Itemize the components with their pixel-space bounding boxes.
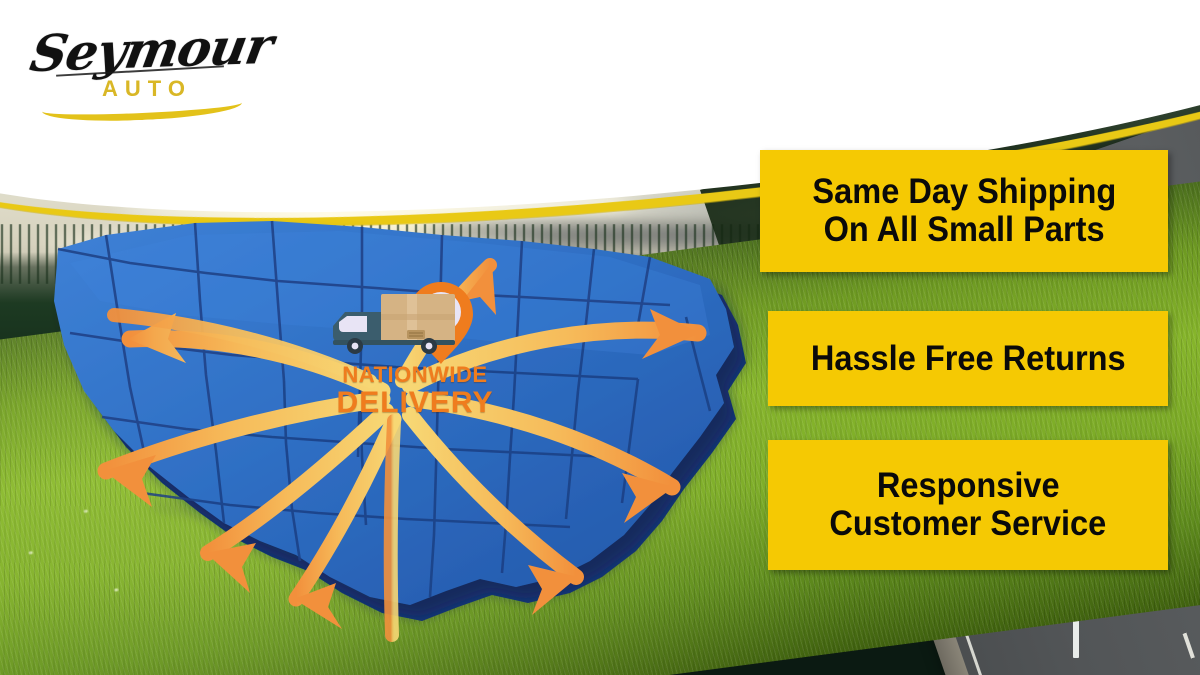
- promotional-banner: Seymour AUTO: [0, 0, 1200, 675]
- callout-1-line-1: Same Day Shipping: [812, 173, 1116, 211]
- brand-name: Seymour: [26, 16, 277, 83]
- delivery-label-line1: NATIONWIDE: [325, 364, 505, 386]
- nationwide-delivery-badge: NATIONWIDE DELIVERY: [325, 278, 505, 448]
- callout-hassle-free-returns[interactable]: Hassle Free Returns: [768, 311, 1168, 406]
- callout-same-day-shipping[interactable]: Same Day Shipping On All Small Parts: [760, 150, 1168, 272]
- brand-logo[interactable]: Seymour AUTO: [26, 18, 236, 118]
- callout-2-line-1: Hassle Free Returns: [811, 340, 1126, 378]
- callout-responsive-customer-service[interactable]: Responsive Customer Service: [768, 440, 1168, 570]
- callout-3-line-1: Responsive: [877, 467, 1060, 505]
- delivery-truck-icon: [333, 294, 455, 354]
- delivery-label: NATIONWIDE DELIVERY: [325, 364, 505, 418]
- callout-1-line-2: On All Small Parts: [823, 211, 1104, 249]
- delivery-label-line2: DELIVERY: [325, 388, 505, 418]
- callout-3-line-2: Customer Service: [830, 505, 1107, 543]
